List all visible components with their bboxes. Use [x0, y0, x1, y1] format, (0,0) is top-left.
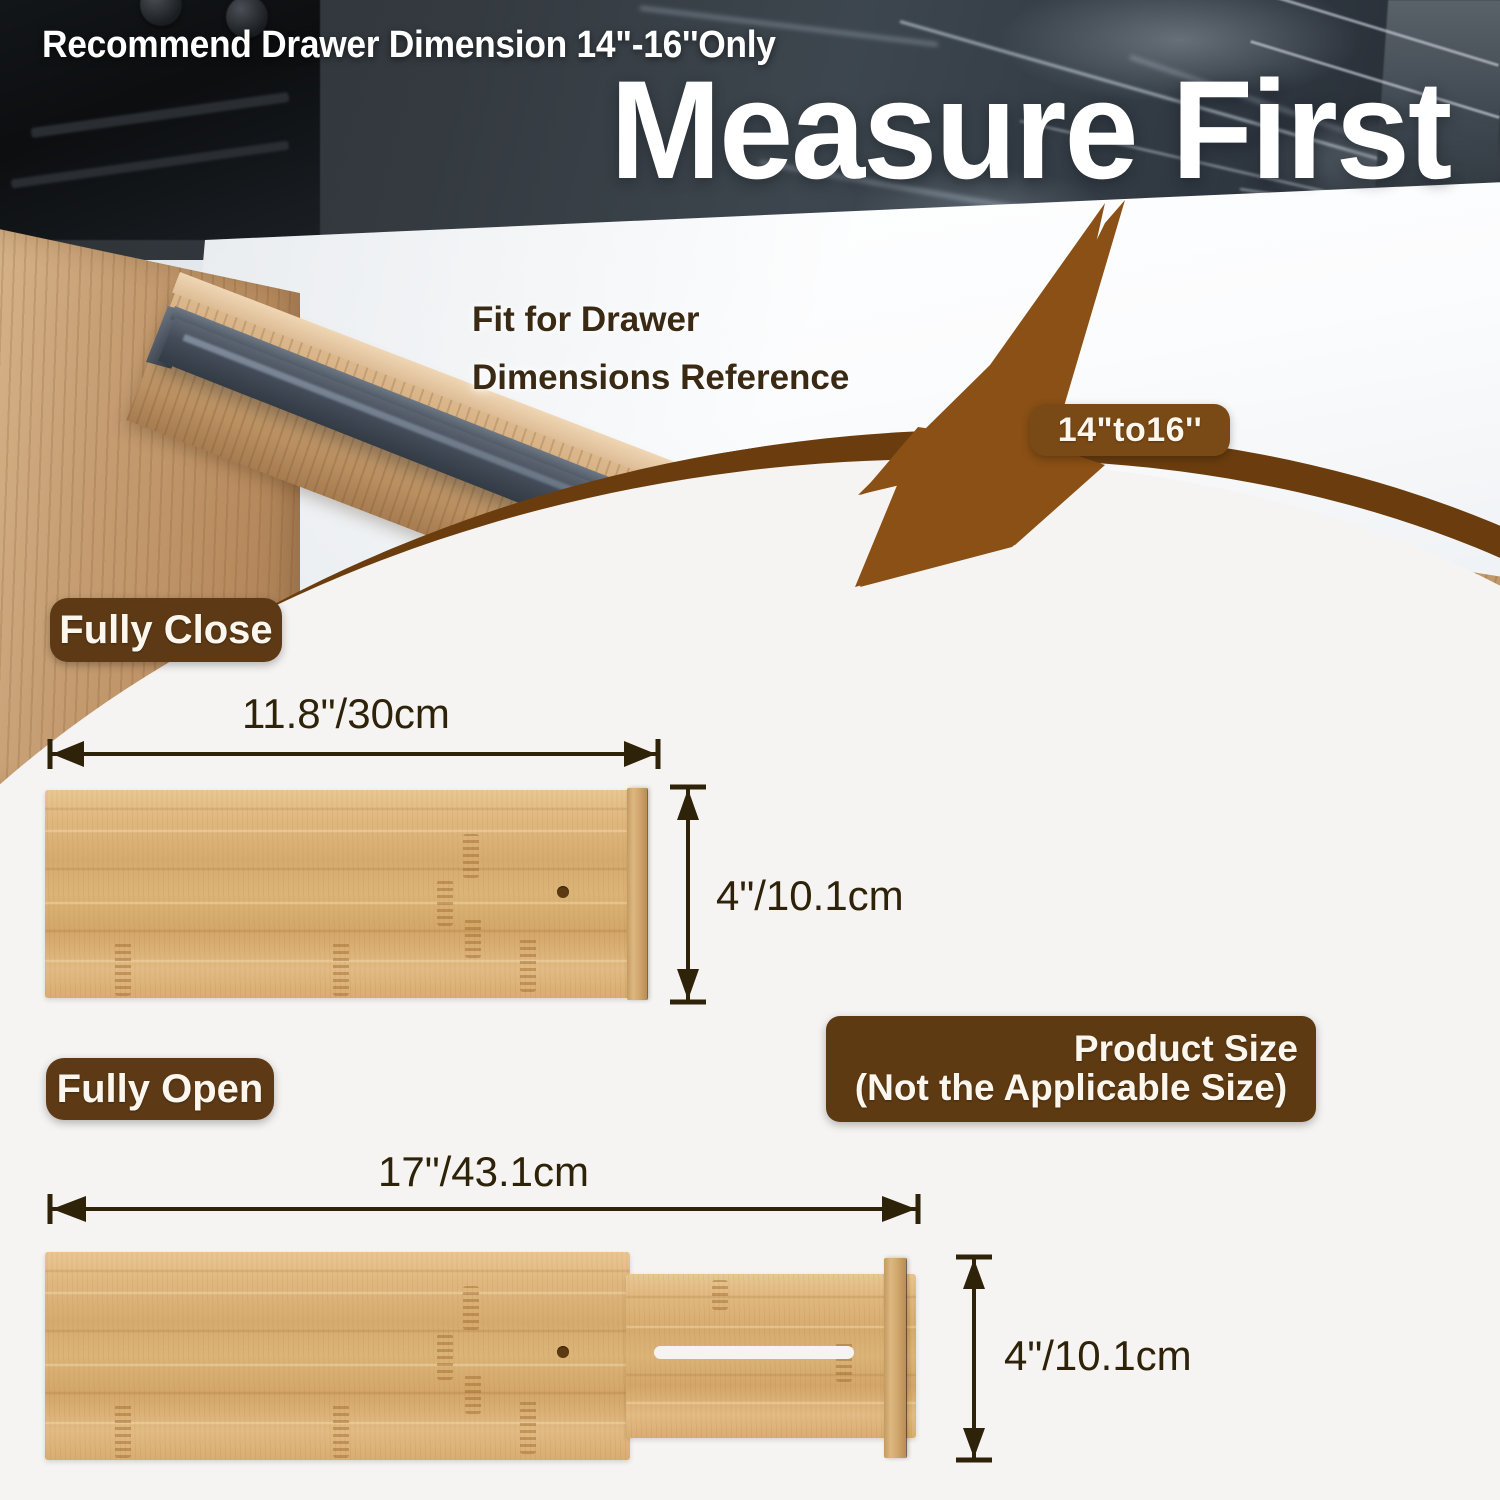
- open-width-dimension-line: [40, 1190, 930, 1230]
- fully-open-badge: Fully Open: [46, 1058, 274, 1120]
- bamboo-divider-closed: [45, 790, 630, 998]
- drawer-range-badge: 14"to16'': [1030, 404, 1230, 456]
- extension-adjust-slot: [654, 1346, 854, 1359]
- fully-close-badge: Fully Close: [50, 598, 282, 662]
- closed-height-dimension-line: [664, 782, 710, 1008]
- closed-width-dimension-line: [40, 735, 670, 775]
- product-size-note-line-2: (Not the Applicable Size): [844, 1068, 1298, 1109]
- closed-width-label: 11.8"/30cm: [242, 690, 450, 738]
- product-size-note: Product Size (Not the Applicable Size): [826, 1016, 1316, 1122]
- bamboo-divider-closed-endcap: [627, 788, 647, 1000]
- product-size-note-line-1: Product Size: [844, 1029, 1298, 1068]
- bamboo-divider-open-endcap: [884, 1258, 906, 1458]
- bamboo-divider-open-extension: [626, 1274, 916, 1438]
- open-width-label: 17"/43.1cm: [378, 1148, 589, 1196]
- closed-height-label: 4"/10.1cm: [716, 872, 904, 920]
- bamboo-divider-open-main: [45, 1252, 630, 1460]
- callout-line-2: Dimensions Reference: [472, 358, 849, 398]
- open-height-label: 4"/10.1cm: [1004, 1332, 1192, 1380]
- callout-line-1: Fit for Drawer: [472, 300, 700, 340]
- page-title: Measure First: [610, 60, 1450, 200]
- open-height-dimension-line: [950, 1252, 996, 1466]
- infographic-canvas: Recommend Drawer Dimension 14"-16''Only …: [0, 0, 1500, 1500]
